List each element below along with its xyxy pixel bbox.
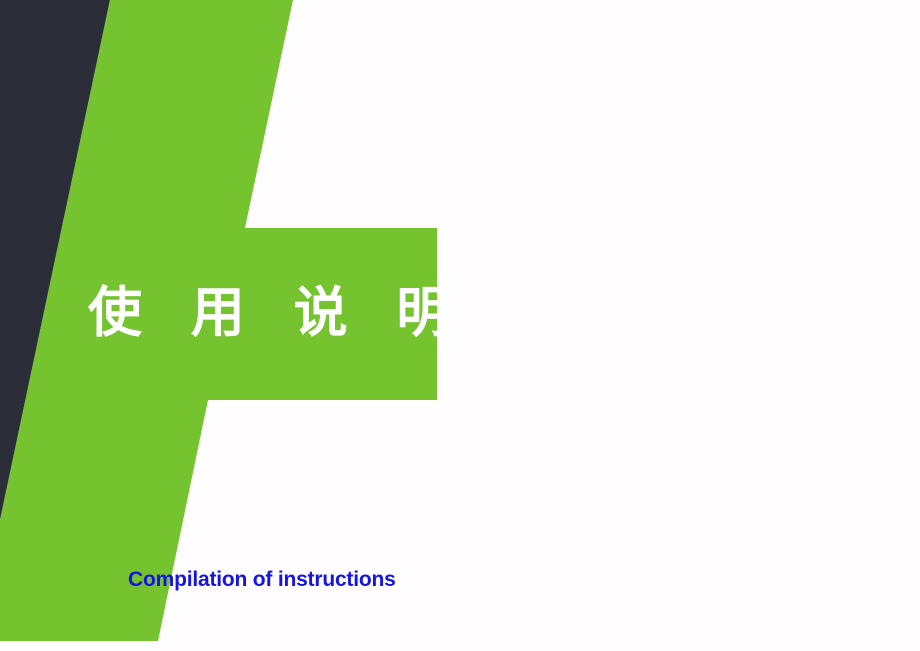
page-subtitle: Compilation of instructions [128,568,396,592]
page-title: 使 用 说 明 [88,278,418,348]
cover-page: 使 用 说 明 Compilation of instructions [0,0,920,651]
